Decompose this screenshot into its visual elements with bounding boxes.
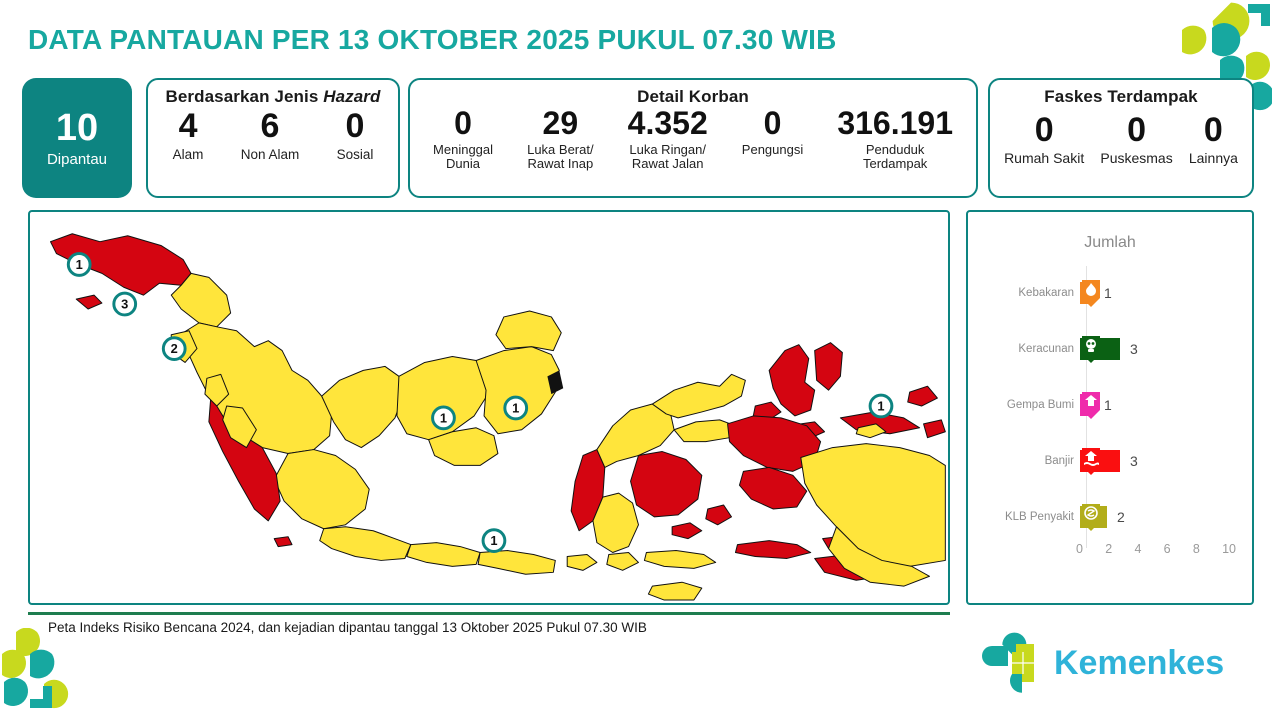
bar-wrap-banjir: 3: [1080, 446, 1138, 476]
chart-x-axis-labels: 0 2 4 6 8 10: [1076, 542, 1236, 556]
faskes-puskesmas-label: Puskesmas: [1092, 151, 1181, 167]
indonesia-map[interactable]: 1 3 2 1 1: [30, 212, 948, 603]
bar-wrap-kebakaran: 1: [1080, 278, 1112, 308]
region-jawa-timur: [478, 551, 555, 575]
map-marker-2[interactable]: 3: [114, 293, 136, 315]
kemenkes-logo-text: Kemenkes: [1054, 644, 1224, 682]
hazard-non-alam-value: 6: [222, 109, 318, 145]
poison-skull-icon: [1080, 334, 1102, 364]
faskes-rumah-sakit-label: Rumah Sakit: [996, 151, 1092, 167]
map-marker-4-label: 1: [440, 410, 447, 425]
hazard-metric-non-alam: 6 Non Alam: [222, 109, 318, 162]
kemenkes-logo-mark: [982, 632, 1041, 694]
faskes-metric-lainnya: 0 Lainnya: [1181, 113, 1246, 166]
hazard-metric-sosial: 0 Sosial: [318, 109, 392, 162]
korban-card: Detail Korban 0 MeninggalDunia 29 Luka B…: [408, 78, 978, 198]
monitored-card: 10 Dipantau: [22, 78, 132, 198]
decorative-corner-bottom-left: [0, 628, 118, 714]
hazard-metrics: 4 Alam 6 Non Alam 0 Sosial: [148, 109, 398, 162]
region-sulawesi-tenggara: [631, 452, 702, 517]
map-marker-7[interactable]: 1: [870, 395, 892, 417]
island-flores: [735, 541, 810, 559]
faskes-puskesmas-value: 0: [1092, 113, 1181, 149]
faskes-card: Faskes Terdampak 0 Rumah Sakit 0 Puskesm…: [988, 78, 1254, 198]
summary-cards-row: 10 Dipantau Berdasarkan Jenis Hazard 4 A…: [22, 78, 1254, 200]
footer-note: Peta Indeks Risiko Bencana 2024, dan kej…: [48, 620, 647, 635]
region-papua-barat-red2: [739, 467, 806, 509]
korban-metric-luka-ringan: 4.352 Luka Ringan/Rawat Jalan: [611, 107, 725, 172]
korban-meninggal-value: 0: [416, 107, 510, 141]
monitored-value: 10: [56, 109, 98, 147]
island-maluku-e: [924, 420, 946, 438]
island-lombok: [607, 553, 639, 571]
faskes-metric-rumah-sakit: 0 Rumah Sakit: [996, 113, 1092, 166]
chart-title: Jumlah: [968, 234, 1252, 252]
hazard-count-chart-panel: Jumlah Kebakaran 1 Keracunan: [966, 210, 1254, 605]
map-marker-3-label: 2: [171, 341, 178, 356]
bar-label-gempa-bumi: Gempa Bumi: [968, 399, 1080, 411]
island-sumba: [648, 582, 701, 600]
faskes-lainnya-value: 0: [1181, 113, 1246, 149]
faskes-rumah-sakit-value: 0: [996, 113, 1092, 149]
bar-row-gempa-bumi[interactable]: Gempa Bumi 1: [968, 390, 1252, 420]
chart-plot-area: Kebakaran 1 Keracunan: [968, 260, 1252, 560]
map-marker-1-label: 1: [76, 257, 83, 272]
flood-house-icon: [1080, 446, 1102, 476]
korban-metric-meninggal: 0 MeninggalDunia: [416, 107, 510, 172]
infographic-page: DATA PANTAUAN PER 13 OKTOBER 2025 PUKUL …: [0, 0, 1272, 714]
bar-value-gempa-bumi: 1: [1104, 397, 1112, 413]
map-marker-3[interactable]: 2: [163, 338, 185, 360]
map-marker-1[interactable]: 1: [68, 254, 90, 276]
sulawesi-islands-small: [672, 523, 702, 539]
xtick-6: 6: [1164, 542, 1171, 556]
map-marker-4[interactable]: 1: [433, 407, 455, 429]
map-marker-5[interactable]: 1: [505, 397, 527, 419]
korban-penduduk-label: PendudukTerdampak: [820, 143, 970, 172]
region-kalimantan-timur: [476, 347, 559, 434]
bar-wrap-gempa-bumi: 1: [1080, 390, 1112, 420]
footer-divider: [28, 612, 950, 615]
earthquake-house-icon: [1080, 390, 1102, 420]
island-enggano: [274, 537, 292, 547]
island-bali: [567, 554, 597, 570]
region-kalimantan-barat: [322, 366, 403, 447]
bar-value-keracunan: 3: [1130, 341, 1138, 357]
hazard-title-italic: Hazard: [323, 87, 380, 106]
korban-metric-penduduk: 316.191 PendudukTerdampak: [820, 107, 970, 172]
region-gorontalo: [674, 420, 735, 442]
region-jawa-barat: [320, 527, 411, 561]
region-kalimantan-utara: [496, 311, 561, 351]
korban-luka-ringan-label: Luka Ringan/Rawat Jalan: [611, 143, 725, 172]
hazard-title-plain: Berdasarkan Jenis: [165, 87, 323, 106]
faskes-metrics: 0 Rumah Sakit 0 Puskesmas 0 Lainnya: [990, 113, 1252, 166]
korban-luka-berat-label: Luka Berat/Rawat Inap: [510, 143, 611, 172]
indonesia-risk-map-panel[interactable]: 1 3 2 1 1: [28, 210, 950, 605]
faskes-metric-puskesmas: 0 Puskesmas: [1092, 113, 1181, 166]
faskes-lainnya-label: Lainnya: [1181, 151, 1246, 167]
map-marker-7-label: 1: [877, 399, 884, 414]
korban-luka-ringan-value: 4.352: [611, 107, 725, 141]
xtick-10: 10: [1222, 542, 1236, 556]
xtick-8: 8: [1193, 542, 1200, 556]
hazard-non-alam-label: Non Alam: [222, 147, 318, 162]
xtick-0: 0: [1076, 542, 1083, 556]
region-jawa-tengah: [407, 543, 480, 567]
island-halmahera-2: [815, 343, 843, 391]
monitored-label: Dipantau: [47, 151, 107, 168]
region-papua: [801, 444, 946, 567]
korban-metric-luka-berat: 29 Luka Berat/Rawat Inap: [510, 107, 611, 172]
bar-value-banjir: 3: [1130, 453, 1138, 469]
island-maluku-sw: [908, 386, 938, 406]
korban-metric-pengungsi: 0 Pengungsi: [725, 107, 821, 157]
hazard-card: Berdasarkan Jenis Hazard 4 Alam 6 Non Al…: [146, 78, 400, 198]
korban-pengungsi-label: Pengungsi: [725, 143, 821, 158]
map-marker-2-label: 3: [121, 297, 128, 312]
hazard-card-title: Berdasarkan Jenis Hazard: [148, 87, 398, 107]
region-sumatra-selatan: [274, 450, 369, 529]
bar-row-banjir[interactable]: Banjir 3: [968, 446, 1252, 476]
bar-row-klb-penyakit[interactable]: KLB Penyakit 2: [968, 502, 1252, 532]
korban-card-title: Detail Korban: [410, 87, 976, 107]
bar-wrap-keracunan: 3: [1080, 334, 1138, 364]
korban-metrics: 0 MeninggalDunia 29 Luka Berat/Rawat Ina…: [410, 107, 976, 172]
bar-value-klb-penyakit: 2: [1117, 509, 1125, 525]
bar-label-banjir: Banjir: [968, 455, 1080, 467]
map-marker-6-label: 1: [490, 533, 497, 548]
kemenkes-logo: Kemenkes: [978, 632, 1246, 694]
hazard-alam-value: 4: [154, 109, 222, 145]
island-sumbawa: [644, 551, 715, 569]
island-simeulue: [76, 295, 102, 309]
xtick-2: 2: [1105, 542, 1112, 556]
bar-row-kebakaran[interactable]: Kebakaran 1: [968, 278, 1252, 308]
hazard-sosial-label: Sosial: [318, 147, 392, 162]
bar-wrap-klb-penyakit: 2: [1080, 502, 1125, 532]
bar-label-keracunan: Keracunan: [968, 343, 1080, 355]
hazard-alam-label: Alam: [154, 147, 222, 162]
bar-row-keracunan[interactable]: Keracunan 3: [968, 334, 1252, 364]
bar-label-klb-penyakit: KLB Penyakit: [968, 511, 1080, 523]
map-marker-5-label: 1: [512, 400, 519, 415]
korban-penduduk-value: 316.191: [820, 107, 970, 141]
island-buton: [706, 505, 732, 525]
disease-icon: [1080, 502, 1102, 532]
map-marker-6[interactable]: 1: [483, 530, 505, 552]
bar-value-kebakaran: 1: [1104, 285, 1112, 301]
korban-meninggal-label: MeninggalDunia: [416, 143, 510, 172]
korban-luka-berat-value: 29: [510, 107, 611, 141]
page-title: DATA PANTAUAN PER 13 OKTOBER 2025 PUKUL …: [28, 24, 836, 56]
fire-icon: [1080, 278, 1102, 308]
xtick-4: 4: [1134, 542, 1141, 556]
hazard-metric-alam: 4 Alam: [154, 109, 222, 162]
region-maluku-utara: [769, 345, 815, 416]
hazard-sosial-value: 0: [318, 109, 392, 145]
faskes-card-title: Faskes Terdampak: [990, 87, 1252, 107]
bar-label-kebakaran: Kebakaran: [968, 287, 1080, 299]
region-sulawesi-utara: [652, 374, 745, 418]
korban-pengungsi-value: 0: [725, 107, 821, 141]
